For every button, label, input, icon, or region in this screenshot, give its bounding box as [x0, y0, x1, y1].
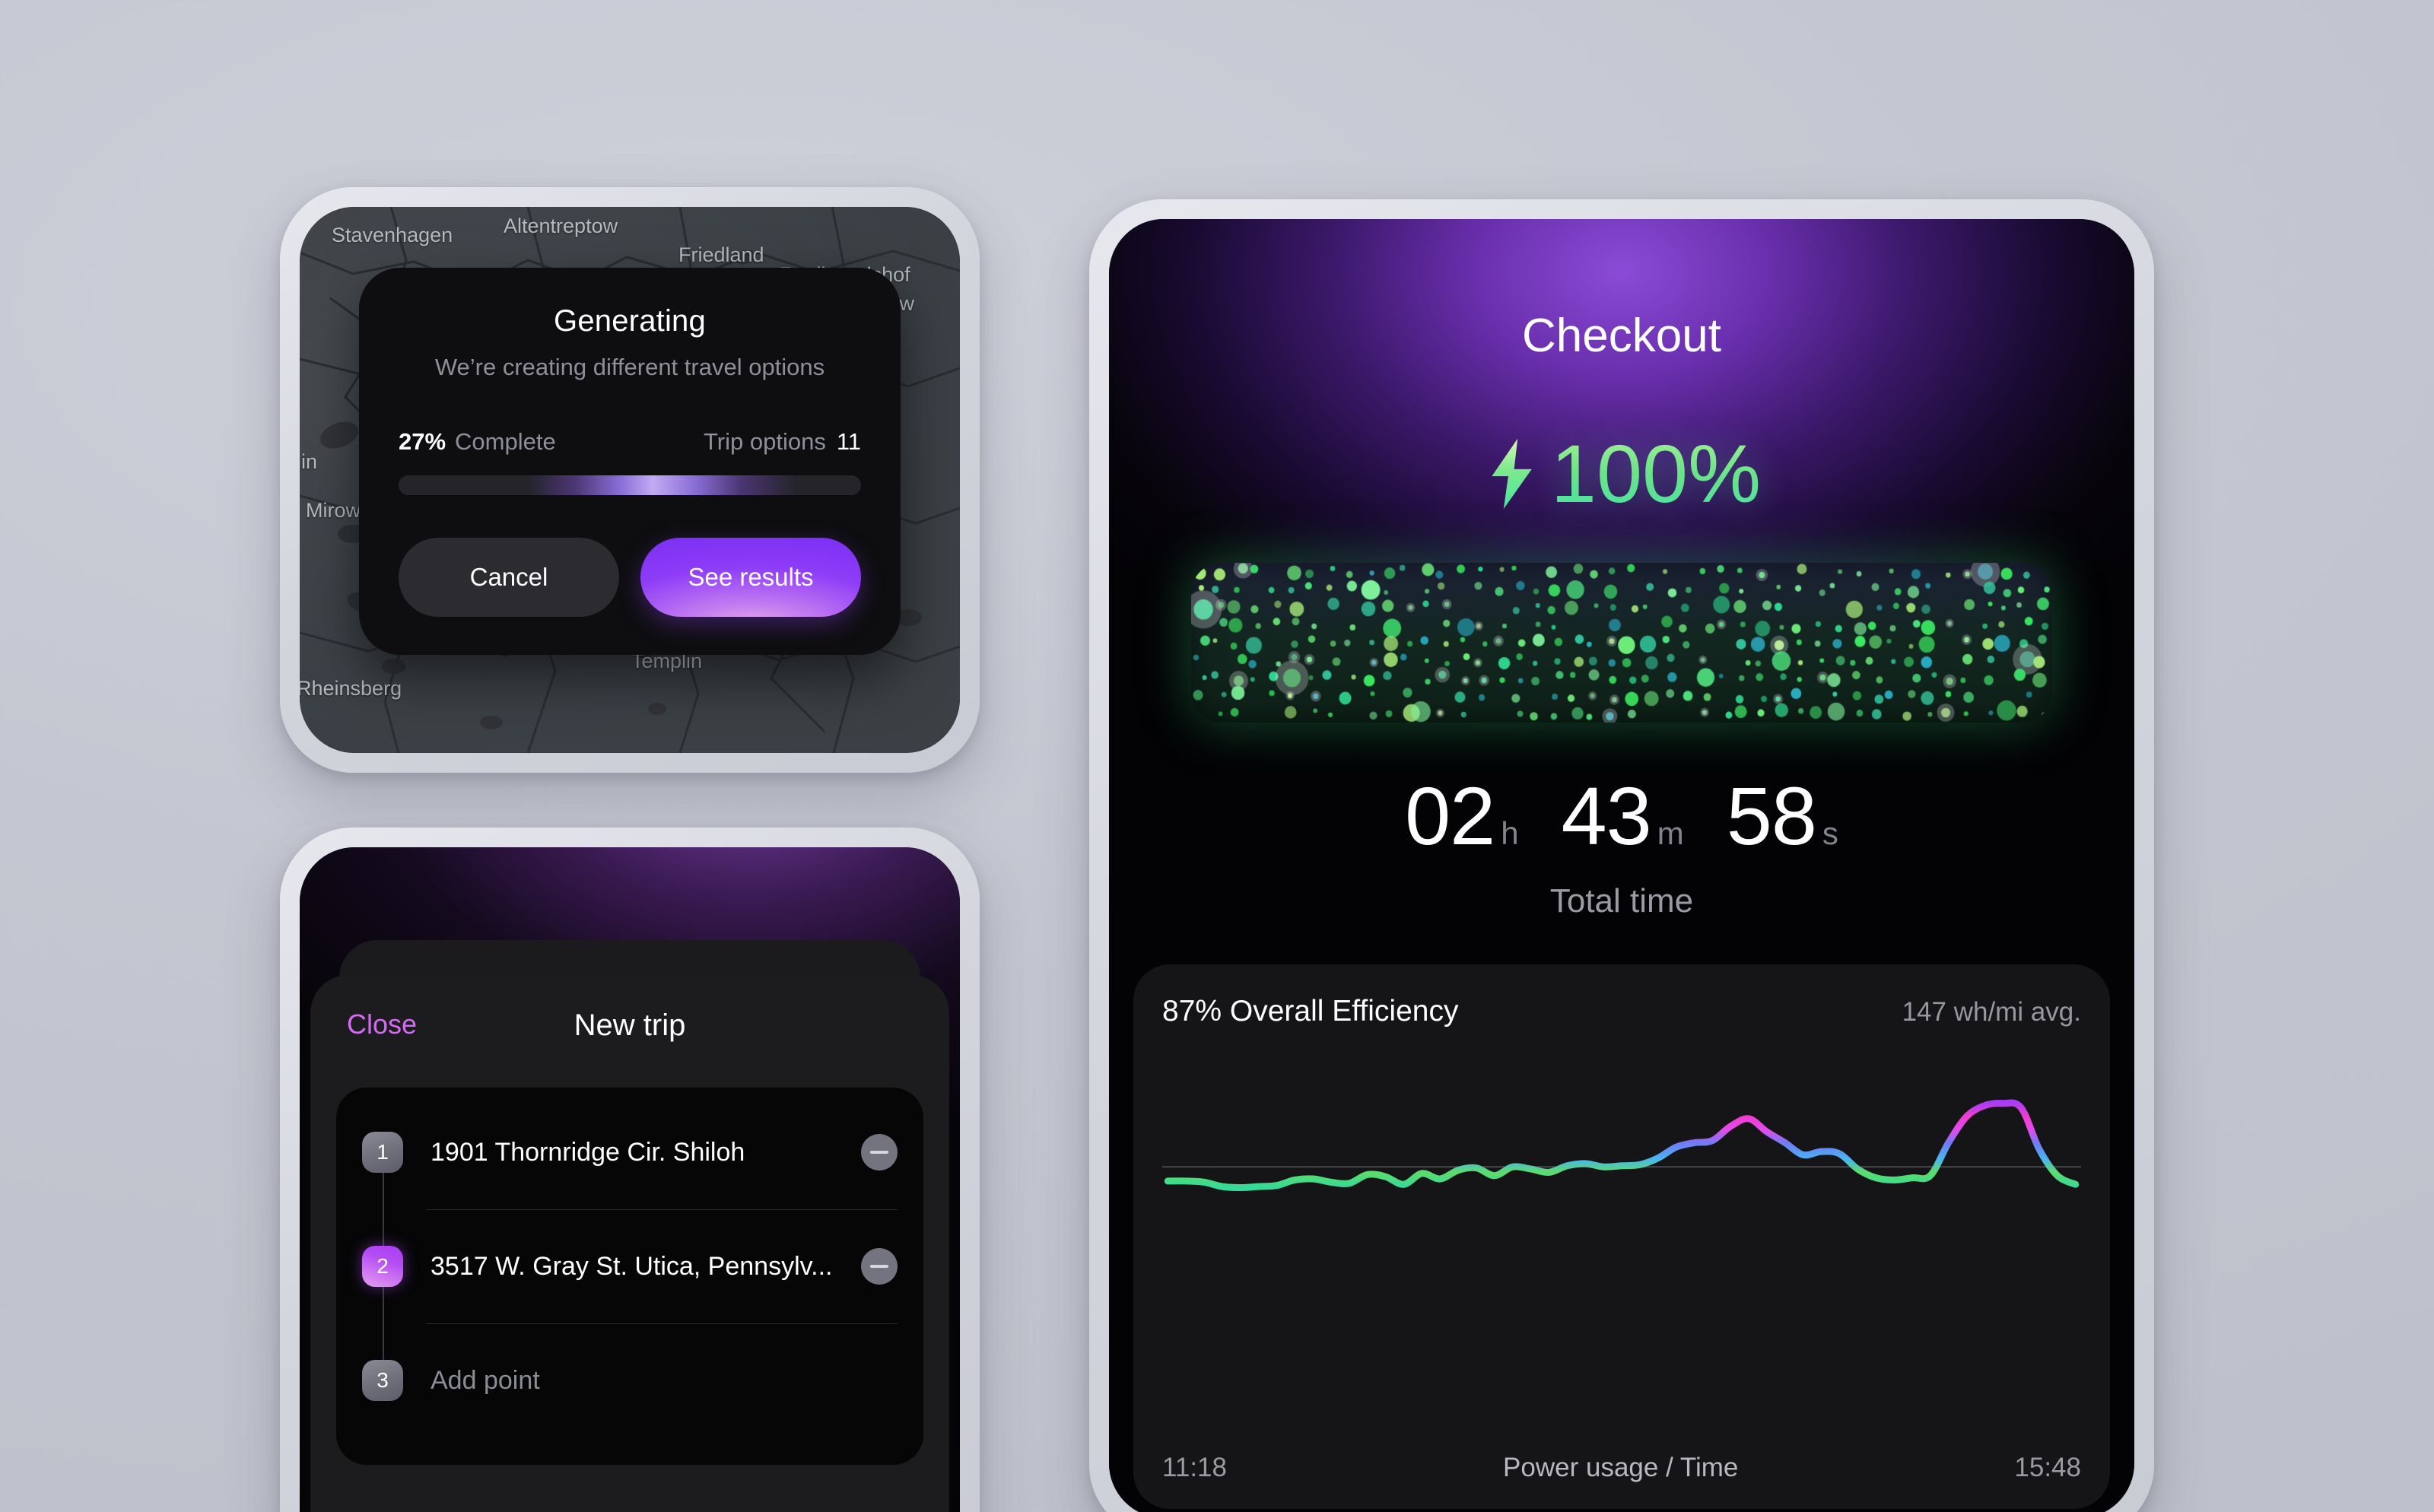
trip-phone-screen: Close New trip 1 1901 Thornridge Cir. Sh… — [300, 847, 960, 1512]
total-time-label: Total time — [1109, 882, 2134, 920]
minus-circle-icon[interactable] — [861, 1134, 898, 1171]
total-time-readout: 02h 43m 58s — [1109, 768, 2134, 863]
dialog-subtitle: We’re creating different travel options — [399, 354, 861, 381]
chart-axis-caption: Power usage / Time — [1503, 1453, 1738, 1483]
trip-points-list: 1 1901 Thornridge Cir. Shiloh 2 3517 W. … — [336, 1088, 923, 1465]
sheet-header: Close New trip — [336, 1009, 923, 1051]
chart-axis-start: 11:18 — [1162, 1453, 1227, 1483]
map-label: Mirow — [306, 499, 361, 523]
progress-stat: 27%Complete — [399, 428, 556, 456]
sheet-title: New trip — [336, 1009, 923, 1043]
efficiency-header: 87% Overall Efficiency 147 wh/mi avg. — [1162, 995, 2081, 1028]
chart-axis-labels: 11:18 Power usage / Time 15:48 — [1162, 1453, 2081, 1483]
trip-options-label: Trip options — [704, 428, 826, 455]
dialog-title: Generating — [399, 304, 861, 338]
map-phone-frame: Stavenhagen Altentreptow Friedland Ferdi… — [280, 187, 980, 773]
point-badge: 1 — [362, 1132, 403, 1173]
list-item[interactable]: 2 3517 W. Gray St. Utica, Pennsylv... — [362, 1209, 898, 1323]
page-title: Checkout — [1109, 309, 2134, 363]
generating-dialog: Generating We’re creating different trav… — [359, 268, 901, 655]
efficiency-card[interactable]: 87% Overall Efficiency 147 wh/mi avg. — [1133, 964, 2110, 1509]
dialog-stats-row: 27%Complete Trip options11 — [399, 428, 861, 456]
timer-minutes-unit: m — [1657, 815, 1684, 851]
efficiency-average: 147 wh/mi avg. — [1902, 997, 2081, 1028]
progress-label: Complete — [455, 428, 556, 455]
checkout-phone-frame: Checkout 100% 02h 43 — [1089, 199, 2154, 1512]
close-button[interactable]: Close — [347, 1009, 417, 1040]
list-item[interactable]: 1 1901 Thornridge Cir. Shiloh — [362, 1095, 898, 1209]
map-label: Stavenhagen — [332, 224, 453, 247]
timer-minutes: 43 — [1562, 770, 1651, 862]
map-label: lin — [300, 450, 317, 474]
lightning-bolt-icon — [1482, 436, 1539, 512]
chart-axis-end: 15:48 — [2014, 1453, 2081, 1483]
progress-bar-fill — [399, 475, 861, 495]
timer-seconds-unit: s — [1822, 815, 1838, 851]
map-label: Rheinsberg — [300, 677, 402, 700]
battery-particle-field — [1191, 563, 2052, 723]
trip-options-stat: Trip options11 — [704, 428, 861, 456]
point-badge: 2 — [362, 1246, 403, 1287]
cancel-button[interactable]: Cancel — [399, 538, 619, 617]
timer-seconds-group: 58s — [1727, 768, 1838, 863]
charge-status-row: 100% — [1109, 426, 2134, 521]
minus-circle-icon[interactable] — [861, 1248, 898, 1285]
particle-canvas — [1191, 563, 2052, 723]
map-phone-screen: Stavenhagen Altentreptow Friedland Ferdi… — [300, 207, 960, 753]
timer-minutes-group: 43m — [1562, 768, 1684, 863]
power-usage-line — [1168, 1103, 2076, 1188]
efficiency-title: 87% Overall Efficiency — [1162, 995, 1458, 1028]
dialog-actions: Cancel See results — [399, 538, 861, 617]
checkout-phone-screen: Checkout 100% 02h 43 — [1109, 219, 2134, 1512]
progress-percent: 27% — [399, 428, 446, 455]
map-label: Friedland — [678, 243, 764, 267]
power-usage-chart-svg — [1162, 1072, 2081, 1209]
point-badge: 3 — [362, 1360, 403, 1401]
map-label: Altentreptow — [504, 214, 618, 238]
see-results-button[interactable]: See results — [640, 538, 861, 617]
timer-hours-group: 02h — [1405, 768, 1519, 863]
trip-phone-frame: Close New trip 1 1901 Thornridge Cir. Sh… — [280, 827, 980, 1512]
point-address: 1901 Thornridge Cir. Shiloh — [431, 1138, 861, 1167]
add-point-label: Add point — [431, 1366, 898, 1396]
progress-bar — [399, 475, 861, 495]
trip-options-count: 11 — [837, 428, 861, 455]
timer-seconds: 58 — [1727, 770, 1816, 862]
add-point-row[interactable]: 3 Add point — [362, 1323, 898, 1437]
timer-hours: 02 — [1405, 770, 1495, 862]
new-trip-sheet: Close New trip 1 1901 Thornridge Cir. Sh… — [310, 975, 949, 1512]
charge-percent: 100% — [1551, 426, 1761, 521]
timer-hours-unit: h — [1501, 815, 1518, 851]
point-address: 3517 W. Gray St. Utica, Pennsylv... — [431, 1252, 861, 1282]
power-usage-chart — [1162, 1072, 2081, 1209]
